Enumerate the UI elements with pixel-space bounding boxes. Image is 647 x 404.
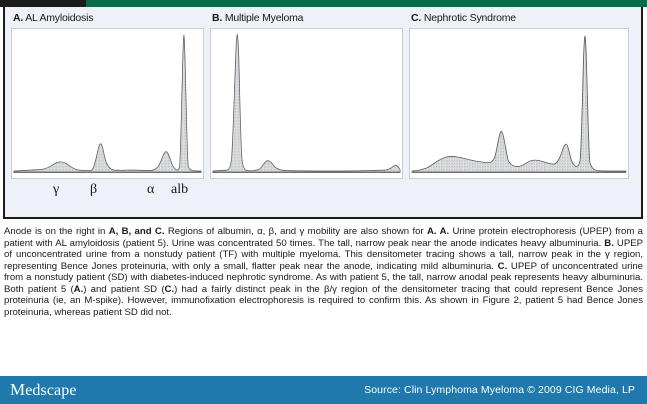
region-label-gamma: γ	[53, 182, 59, 198]
panel-a-region-labels: γ β α alb	[11, 179, 204, 203]
panel-c-region-labels-spacer	[409, 179, 629, 203]
panel-b-trace-frame	[210, 28, 403, 179]
panel-b-title-text: Multiple Myeloma	[225, 12, 304, 24]
footer-bar: Medscape Source: Clin Lymphoma Myeloma ©…	[0, 376, 647, 404]
panel-a-densitometer-trace	[12, 29, 203, 178]
panel-c-trace-area	[412, 36, 626, 173]
panel-b-trace-area	[213, 34, 400, 172]
panel-a-title-text: AL Amyloidosis	[25, 12, 93, 24]
panel-c-densitometer-trace	[410, 29, 628, 178]
caption-segment-5: B.	[604, 238, 614, 249]
panel-b-multiple-myeloma: B. Multiple Myeloma	[210, 11, 403, 211]
medscape-logo-initial: M	[10, 380, 25, 399]
region-label-alpha: α	[147, 182, 154, 198]
caption-segment-0: Anode is on the right in	[4, 226, 109, 237]
panel-a-letter: A.	[13, 12, 23, 24]
panel-b-densitometer-trace	[211, 29, 402, 178]
panel-c-letter: C.	[411, 12, 421, 24]
panel-c-nephrotic-syndrome: C. Nephrotic Syndrome	[409, 11, 629, 211]
caption-segment-2: Regions of albumin, α, β, and γ mobility…	[164, 226, 427, 237]
region-label-beta: β	[90, 182, 97, 198]
source-attribution: Source: Clin Lymphoma Myeloma © 2009 CIG…	[364, 384, 635, 396]
panel-b-region-labels-spacer	[210, 179, 403, 203]
panel-c-title: C. Nephrotic Syndrome	[409, 11, 629, 28]
figure-caption: Anode is on the right in A, B, and C. Re…	[4, 226, 643, 318]
panel-c-title-text: Nephrotic Syndrome	[424, 12, 516, 24]
region-label-albumin: alb	[171, 182, 188, 198]
medscape-logo-rest: edscape	[25, 382, 76, 399]
top-accent-bar-black-segment	[0, 0, 86, 7]
panel-a-title: A. AL Amyloidosis	[11, 11, 204, 28]
panel-a-al-amyloidosis: A. AL Amyloidosis γ	[11, 11, 204, 211]
caption-segment-3: A. A.	[427, 226, 449, 237]
panel-b-letter: B.	[212, 12, 222, 24]
medscape-logo[interactable]: Medscape	[10, 380, 77, 400]
panels-row: A. AL Amyloidosis γ	[5, 7, 641, 217]
panel-c-trace-frame	[409, 28, 629, 179]
figure-panel-container: A. AL Amyloidosis γ	[3, 7, 643, 219]
panel-a-trace-area	[14, 35, 201, 173]
caption-segment-9: A.	[74, 284, 84, 295]
caption-segment-11: C.	[165, 284, 175, 295]
panel-a-trace-frame	[11, 28, 204, 179]
caption-segment-1: A, B, and C.	[109, 226, 165, 237]
top-accent-bar	[0, 0, 647, 7]
top-accent-bar-green-segment	[86, 0, 647, 7]
panel-b-title: B. Multiple Myeloma	[210, 11, 403, 28]
caption-segment-10: ) and patient SD (	[83, 284, 164, 295]
caption-segment-7: C.	[498, 261, 508, 272]
